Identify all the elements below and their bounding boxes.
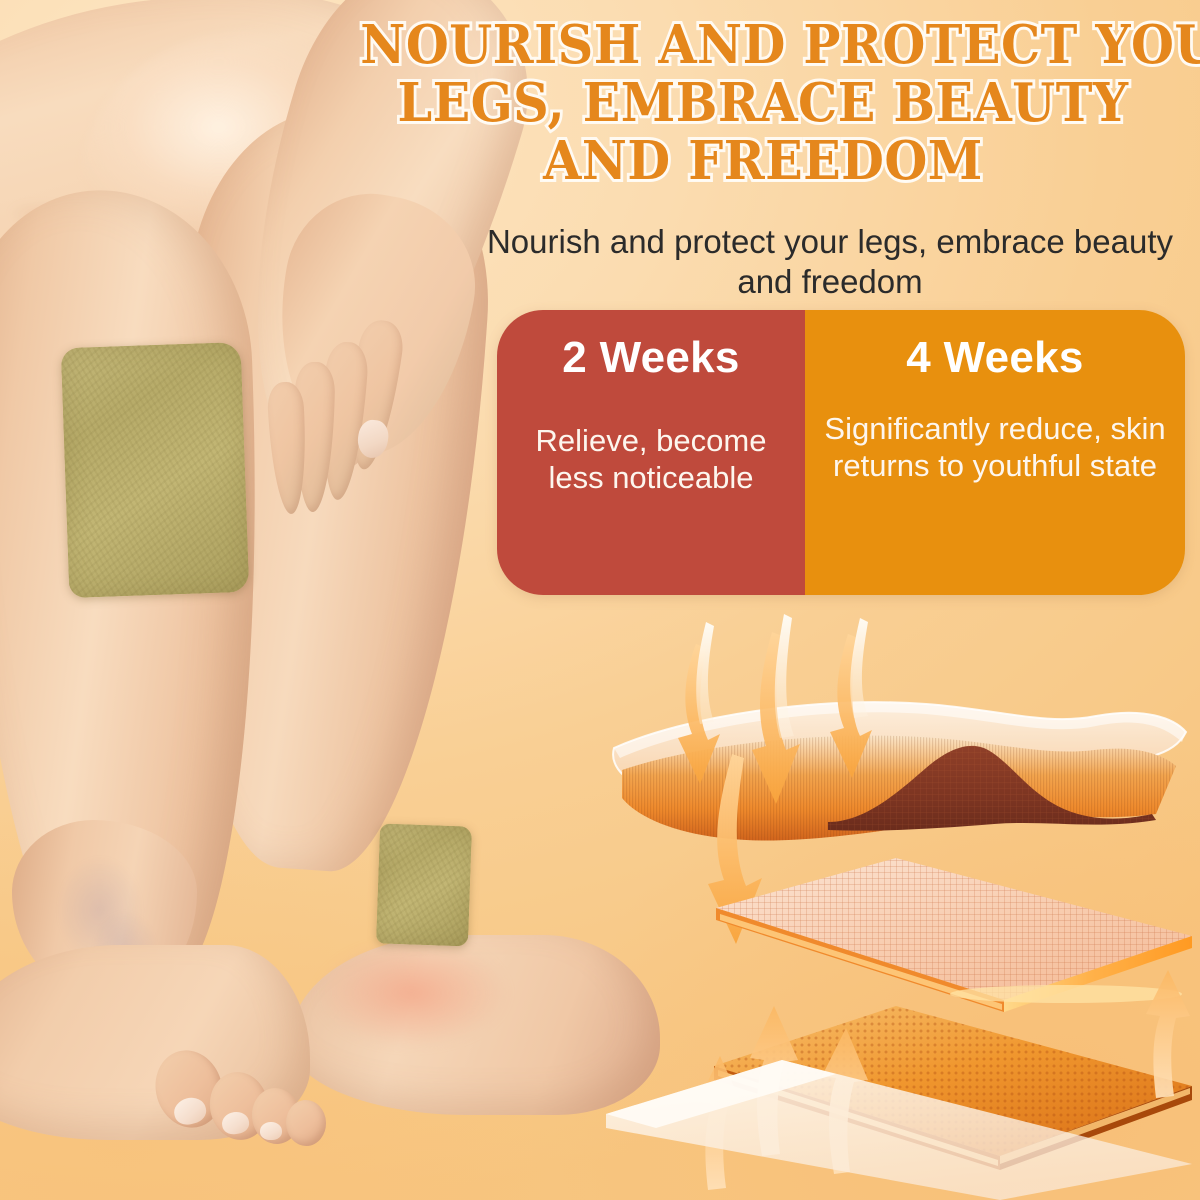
panel-2-weeks-title: 2 Weeks (562, 332, 739, 384)
headline-line-2: LEGS, EMBRACE BEAUTY (360, 74, 1165, 132)
toenail-3 (260, 1122, 282, 1140)
panel-4-weeks: 4 Weeks Significantly reduce, skin retur… (805, 310, 1185, 595)
patch-layer-diagram (596, 608, 1200, 1200)
headline-line-3: AND FREEDOM (360, 132, 1165, 190)
panel-4-weeks-title: 4 Weeks (906, 332, 1083, 384)
panel-2-weeks: 2 Weeks Relieve, become less noticeable (497, 310, 805, 595)
headline: NOURISH AND PROTECT YOUR LEGS, EMBRACE B… (360, 16, 1165, 190)
panel-2-weeks-desc: Relieve, become less noticeable (497, 422, 805, 496)
toe-4 (285, 1099, 327, 1146)
headline-line-1: NOURISH AND PROTECT YOUR (360, 16, 1165, 74)
subheadline: Nourish and protect your legs, embrace b… (470, 222, 1190, 302)
herbal-patch-ankle (376, 823, 472, 946)
panel-4-weeks-desc: Significantly reduce, skin returns to yo… (805, 410, 1185, 484)
heel-blush (315, 940, 525, 1060)
product-marketing-image: NOURISH AND PROTECT YOUR LEGS, EMBRACE B… (0, 0, 1200, 1200)
herbal-patch-calf (61, 342, 250, 598)
timeline-comparison-card: 2 Weeks Relieve, become less noticeable … (497, 310, 1185, 595)
mesh-absorption-layer (716, 858, 1192, 1012)
